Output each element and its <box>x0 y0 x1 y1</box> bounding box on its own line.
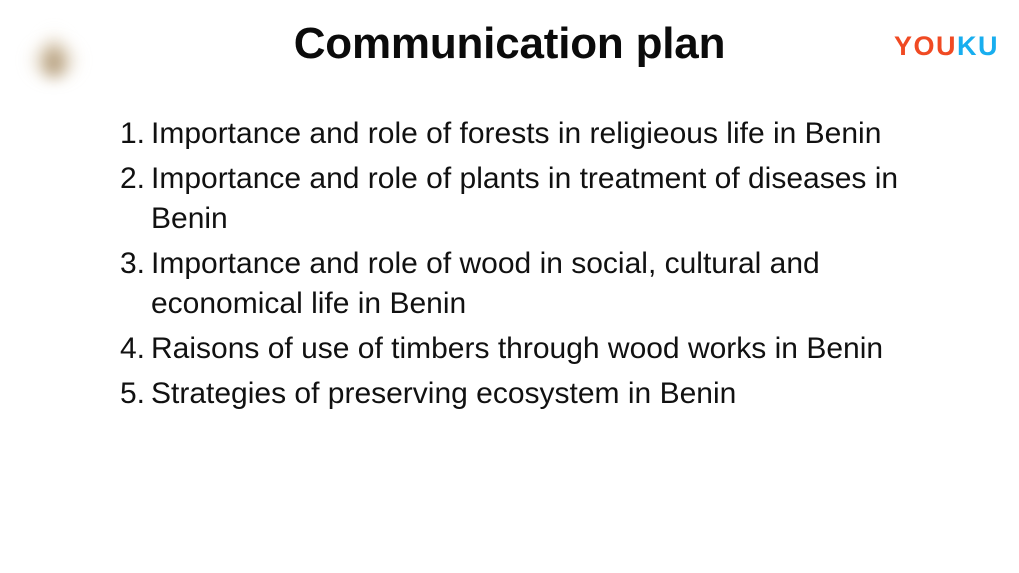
list-item-text: Strategies of preserving ecosystem in Be… <box>151 374 911 414</box>
youku-logo-part-ku: KU <box>957 31 999 61</box>
list-item-text: Raisons of use of timbers through wood w… <box>151 329 911 369</box>
list-item: 1. Importance and role of forests in rel… <box>120 114 950 154</box>
communication-plan-list: 1. Importance and role of forests in rel… <box>120 114 950 419</box>
youku-logo-part-you: YOU <box>894 31 957 61</box>
list-item-number: 3. <box>120 244 151 284</box>
list-item-number: 2. <box>120 159 151 199</box>
list-item-number: 5. <box>120 374 151 414</box>
list-item: 5. Strategies of preserving ecosystem in… <box>120 374 950 414</box>
list-item: 3. Importance and role of wood in social… <box>120 244 950 324</box>
presentation-slide: Communication plan YOUKU 1. Importance a… <box>0 0 1019 573</box>
list-item-text: Importance and role of wood in social, c… <box>151 244 911 324</box>
list-item-text: Importance and role of forests in religi… <box>151 114 911 154</box>
list-item: 4. Raisons of use of timbers through woo… <box>120 329 950 369</box>
slide-title: Communication plan <box>0 16 1019 72</box>
list-item: 2. Importance and role of plants in trea… <box>120 159 950 239</box>
youku-watermark-logo: YOUKU <box>894 33 999 60</box>
list-item-number: 4. <box>120 329 151 369</box>
list-item-number: 1. <box>120 114 151 154</box>
list-item-text: Importance and role of plants in treatme… <box>151 159 911 239</box>
